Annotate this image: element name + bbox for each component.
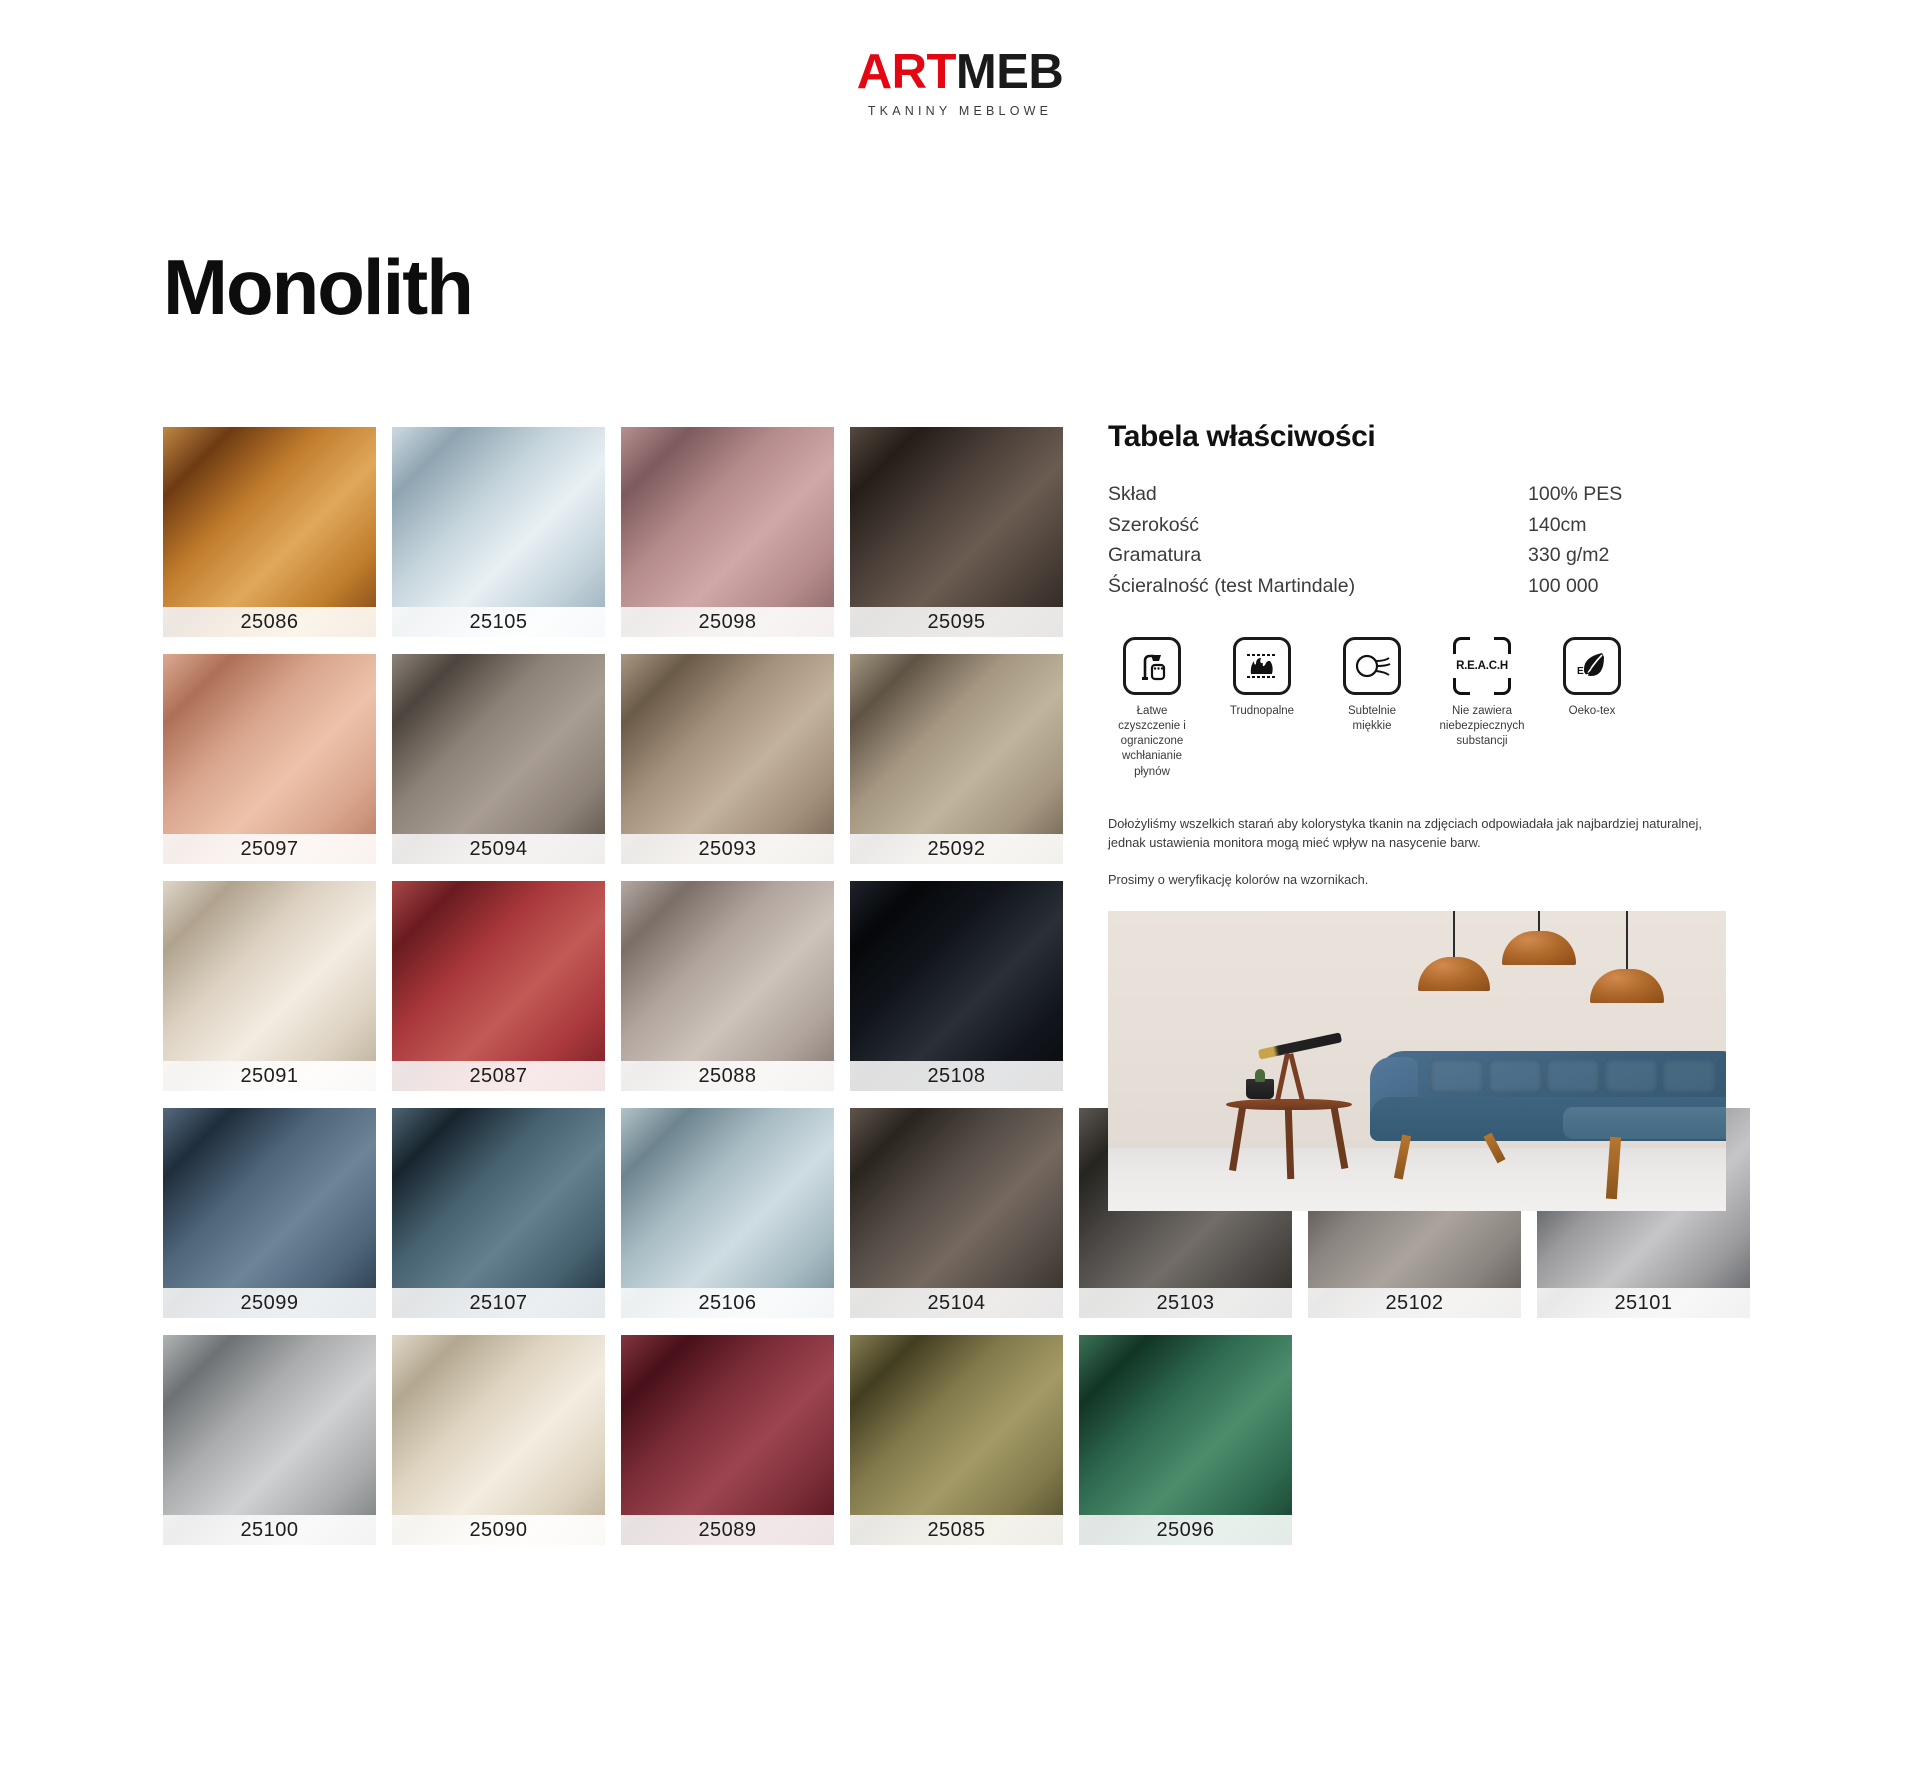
color-disclaimer: Dołożyliśmy wszelkich starań aby kolorys… (1108, 814, 1726, 890)
fabric-swatch-code: 25092 (927, 838, 985, 861)
fabric-swatch-label: 25100 (163, 1515, 376, 1545)
properties-panel-title: Tabela właściwości (1108, 420, 1728, 454)
feature-item: Trudnopalne (1218, 637, 1306, 780)
fabric-swatch-image (392, 881, 605, 1061)
eco-leaf-icon-badge: ECO (1563, 637, 1621, 695)
fabric-swatch[interactable]: 25092 (850, 654, 1063, 864)
fabric-swatch-label: 25085 (850, 1515, 1063, 1545)
fabric-swatch-image (392, 427, 605, 607)
feature-icons-row: Łatwe czyszczenie i ograniczone wchłania… (1108, 637, 1728, 780)
fabric-swatch-label: 25107 (392, 1288, 605, 1318)
feature-caption: Łatwe czyszczenie i ograniczone wchłania… (1108, 704, 1196, 780)
fabric-swatch[interactable]: 25096 (1079, 1335, 1292, 1545)
pendant-lamp-cord-3 (1626, 911, 1628, 971)
fabric-swatch-image (1079, 1335, 1292, 1515)
fabric-swatch-image (392, 654, 605, 834)
fabric-swatch-label: 25106 (621, 1288, 834, 1318)
fabric-swatch-code: 25098 (698, 611, 756, 634)
property-row: Gramatura330 g/m2 (1108, 543, 1728, 574)
fabric-swatch[interactable]: 25099 (163, 1108, 376, 1318)
svg-text:ECO: ECO (1577, 666, 1599, 677)
fabric-swatch-label: 25105 (392, 607, 605, 637)
fabric-swatch-label: 25090 (392, 1515, 605, 1545)
fabric-swatch-label: 25096 (1079, 1515, 1292, 1545)
property-row: Skład100% PES (1108, 482, 1728, 513)
fabric-swatch[interactable]: 25108 (850, 881, 1063, 1091)
pendant-lamp-cord-1 (1453, 911, 1455, 959)
disclaimer-paragraph: Prosimy o weryfikację kolorów na wzornik… (1108, 870, 1726, 889)
fabric-swatch-code: 25100 (240, 1519, 298, 1542)
property-row: Ścieralność (test Martindale)100 000 (1108, 574, 1728, 605)
sofa-chaise (1563, 1107, 1726, 1139)
soft-touch-icon-badge (1343, 637, 1401, 695)
fabric-swatch-code: 25091 (240, 1065, 298, 1088)
logo-meb-text: MEB (956, 45, 1063, 99)
fabric-swatch-image (621, 427, 834, 607)
swatch-row: 2510025090250892508525096 (163, 1335, 1843, 1545)
fabric-swatch-label: 25104 (850, 1288, 1063, 1318)
property-label: Szerokość (1108, 513, 1514, 544)
flame-retardant-icon-badge (1233, 637, 1291, 695)
fabric-swatch-label: 25103 (1079, 1288, 1292, 1318)
cactus (1255, 1069, 1265, 1082)
fabric-swatch-code: 25102 (1385, 1292, 1443, 1315)
fabric-swatch-code: 25104 (927, 1292, 985, 1315)
fabric-swatch-label: 25099 (163, 1288, 376, 1318)
reach-icon-badge: R.E.A.C.H (1453, 637, 1511, 695)
fabric-swatch-image (163, 1335, 376, 1515)
easy-clean-icon (1135, 649, 1169, 683)
fabric-swatch-label: 25092 (850, 834, 1063, 864)
soft-touch-icon (1352, 651, 1392, 681)
fabric-swatch-label: 25089 (621, 1515, 834, 1545)
fabric-swatch-image (850, 1335, 1063, 1515)
feature-item: ECOOeko-tex (1548, 637, 1636, 780)
property-value: 100 000 (1514, 574, 1728, 605)
fabric-swatch-image (850, 1108, 1063, 1288)
fabric-swatch-label: 25088 (621, 1061, 834, 1091)
fabric-swatch-code: 25093 (698, 838, 756, 861)
fabric-swatch-code: 25105 (469, 611, 527, 634)
feature-item: R.E.A.C.HNie zawiera niebezpiecznych sub… (1438, 637, 1526, 780)
fabric-swatch[interactable]: 25105 (392, 427, 605, 637)
feature-caption: Subtelnie miękkie (1328, 704, 1416, 734)
fabric-swatch[interactable]: 25100 (163, 1335, 376, 1545)
fabric-swatch-code: 25095 (927, 611, 985, 634)
fabric-swatch-image (163, 427, 376, 607)
feature-item: Łatwe czyszczenie i ograniczone wchłania… (1108, 637, 1196, 780)
fabric-swatch-code: 25085 (927, 1519, 985, 1542)
fabric-swatch-code: 25099 (240, 1292, 298, 1315)
pendant-lamp-cord-2 (1538, 911, 1540, 933)
fabric-swatch-label: 25086 (163, 607, 376, 637)
fabric-swatch-label: 25101 (1537, 1288, 1750, 1318)
fabric-swatch-code: 25087 (469, 1065, 527, 1088)
feature-caption: Trudnopalne (1230, 704, 1294, 719)
fabric-swatch-label: 25102 (1308, 1288, 1521, 1318)
properties-table: Skład100% PESSzerokość140cmGramatura330 … (1108, 482, 1728, 605)
fabric-swatch-label: 25094 (392, 834, 605, 864)
fabric-swatch[interactable]: 25104 (850, 1108, 1063, 1318)
fabric-swatch[interactable]: 25097 (163, 654, 376, 864)
property-label: Gramatura (1108, 543, 1514, 574)
fabric-swatch-image (392, 1108, 605, 1288)
fabric-swatch-image (850, 654, 1063, 834)
feature-caption: Oeko-tex (1569, 704, 1616, 719)
properties-panel: Tabela właściwości Skład100% PESSzerokoś… (1108, 420, 1728, 1211)
fabric-swatch-code: 25106 (698, 1292, 756, 1315)
sofa-tuft (1488, 1059, 1542, 1093)
property-label: Skład (1108, 482, 1514, 513)
fabric-swatch-code: 25101 (1614, 1292, 1672, 1315)
sofa-tuft (1604, 1059, 1658, 1093)
eco-leaf-icon: ECO (1572, 649, 1612, 683)
sofa-tuft (1430, 1059, 1484, 1093)
fabric-swatch[interactable]: 25106 (621, 1108, 834, 1318)
fabric-swatch[interactable]: 25093 (621, 654, 834, 864)
property-value: 330 g/m2 (1514, 543, 1728, 574)
fabric-swatch-image (163, 881, 376, 1061)
fabric-swatch[interactable]: 25088 (621, 881, 834, 1091)
property-value: 100% PES (1514, 482, 1728, 513)
plant-pot (1246, 1079, 1274, 1099)
fabric-swatch-code: 25088 (698, 1065, 756, 1088)
easy-clean-icon-badge (1123, 637, 1181, 695)
fabric-swatch-label: 25093 (621, 834, 834, 864)
fabric-swatch-image (621, 1108, 834, 1288)
fabric-swatch-label: 25108 (850, 1061, 1063, 1091)
fabric-swatch[interactable]: 25087 (392, 881, 605, 1091)
sofa-tuft (1546, 1059, 1600, 1093)
fabric-swatch-code: 25107 (469, 1292, 527, 1315)
fabric-swatch-image (621, 881, 834, 1061)
interior-photo (1108, 911, 1726, 1211)
page-title: Monolith (163, 248, 472, 326)
property-label: Ścieralność (test Martindale) (1108, 574, 1514, 605)
property-row: Szerokość140cm (1108, 513, 1728, 544)
property-value: 140cm (1514, 513, 1728, 544)
fabric-swatch-code: 25103 (1156, 1292, 1214, 1315)
logo-art-text: ART (857, 45, 956, 99)
fabric-swatch[interactable]: 25086 (163, 427, 376, 637)
fabric-swatch-code: 25096 (1156, 1519, 1214, 1542)
disclaimer-paragraph: Dołożyliśmy wszelkich starań aby kolorys… (1108, 814, 1726, 852)
reach-text: R.E.A.C.H (1456, 660, 1508, 672)
fabric-swatch-image (850, 881, 1063, 1061)
fabric-swatch-code: 25108 (927, 1065, 985, 1088)
photo-floor (1108, 1148, 1726, 1211)
fabric-swatch-image (392, 1335, 605, 1515)
feature-caption: Nie zawiera niebezpiecznych substancji (1438, 704, 1526, 750)
fabric-swatch-code: 25086 (240, 611, 298, 634)
fabric-swatch[interactable]: 25090 (392, 1335, 605, 1545)
fabric-swatch-image (621, 1335, 834, 1515)
fabric-swatch-code: 25094 (469, 838, 527, 861)
feature-item: Subtelnie miękkie (1328, 637, 1416, 780)
fabric-swatch-image (621, 654, 834, 834)
fabric-swatch[interactable]: 25095 (850, 427, 1063, 637)
fabric-swatch-image (163, 1108, 376, 1288)
fabric-swatch[interactable]: 25085 (850, 1335, 1063, 1545)
fabric-swatch-code: 25089 (698, 1519, 756, 1542)
brand-logo: ARTMEB TKANINY MEBLOWE (0, 48, 1920, 118)
fabric-swatch[interactable]: 25107 (392, 1108, 605, 1318)
fabric-swatch[interactable]: 25091 (163, 881, 376, 1091)
fabric-swatch-image (163, 654, 376, 834)
fabric-swatch-image (850, 427, 1063, 607)
fabric-swatch-code: 25090 (469, 1519, 527, 1542)
fabric-swatch-code: 25097 (240, 838, 298, 861)
fabric-swatch-label: 25087 (392, 1061, 605, 1091)
logo-wordmark: ARTMEB (857, 48, 1064, 97)
sofa-tuft (1662, 1059, 1716, 1093)
fabric-swatch[interactable]: 25094 (392, 654, 605, 864)
fabric-swatch[interactable]: 25098 (621, 427, 834, 637)
fabric-swatch[interactable]: 25089 (621, 1335, 834, 1545)
fabric-swatch-label: 25097 (163, 834, 376, 864)
fabric-swatch-label: 25095 (850, 607, 1063, 637)
logo-tagline: TKANINY MEBLOWE (0, 104, 1920, 118)
fabric-swatch-label: 25098 (621, 607, 834, 637)
flame-retardant-icon (1243, 649, 1281, 683)
fabric-swatch-label: 25091 (163, 1061, 376, 1091)
